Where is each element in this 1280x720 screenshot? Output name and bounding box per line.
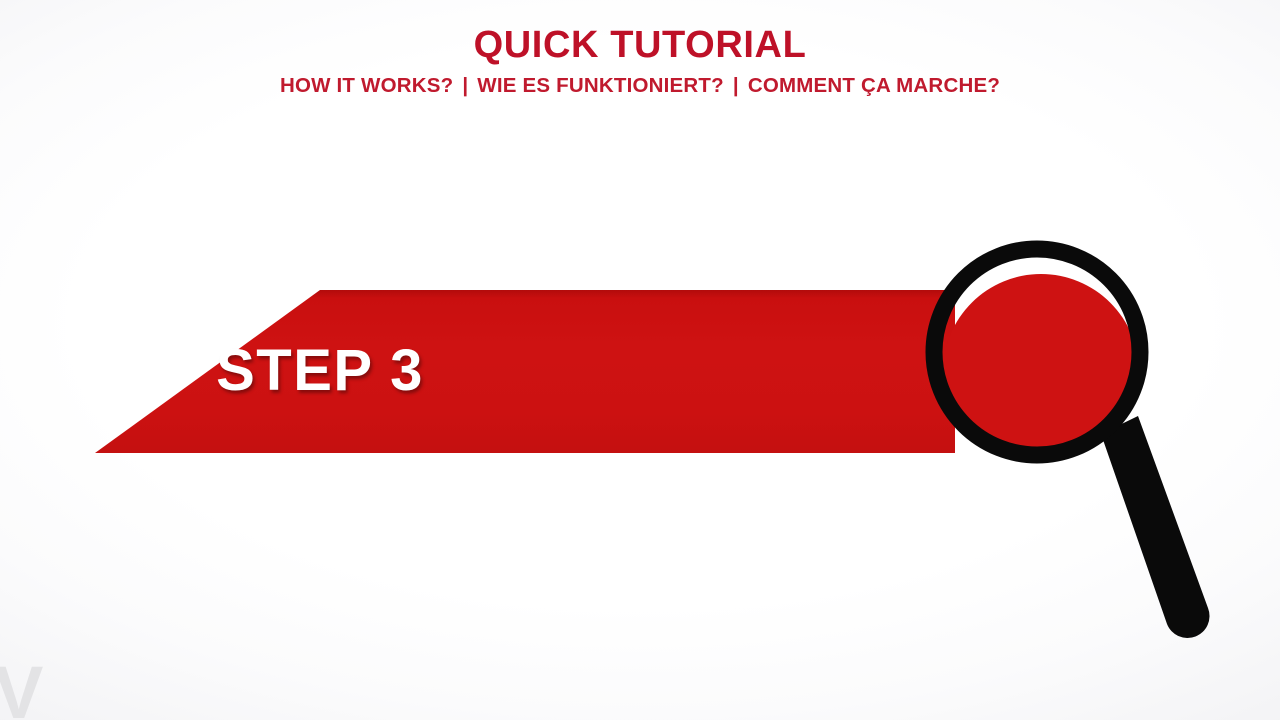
magnifier-handle [1101, 416, 1210, 638]
watermark: V [0, 656, 43, 720]
step-banner-label: STEP 3 [216, 318, 424, 424]
slide-canvas: QUICK TUTORIAL HOW IT WORKS?|WIE ES FUNK… [0, 0, 1280, 720]
magnifying-glass-icon [905, 220, 1235, 650]
